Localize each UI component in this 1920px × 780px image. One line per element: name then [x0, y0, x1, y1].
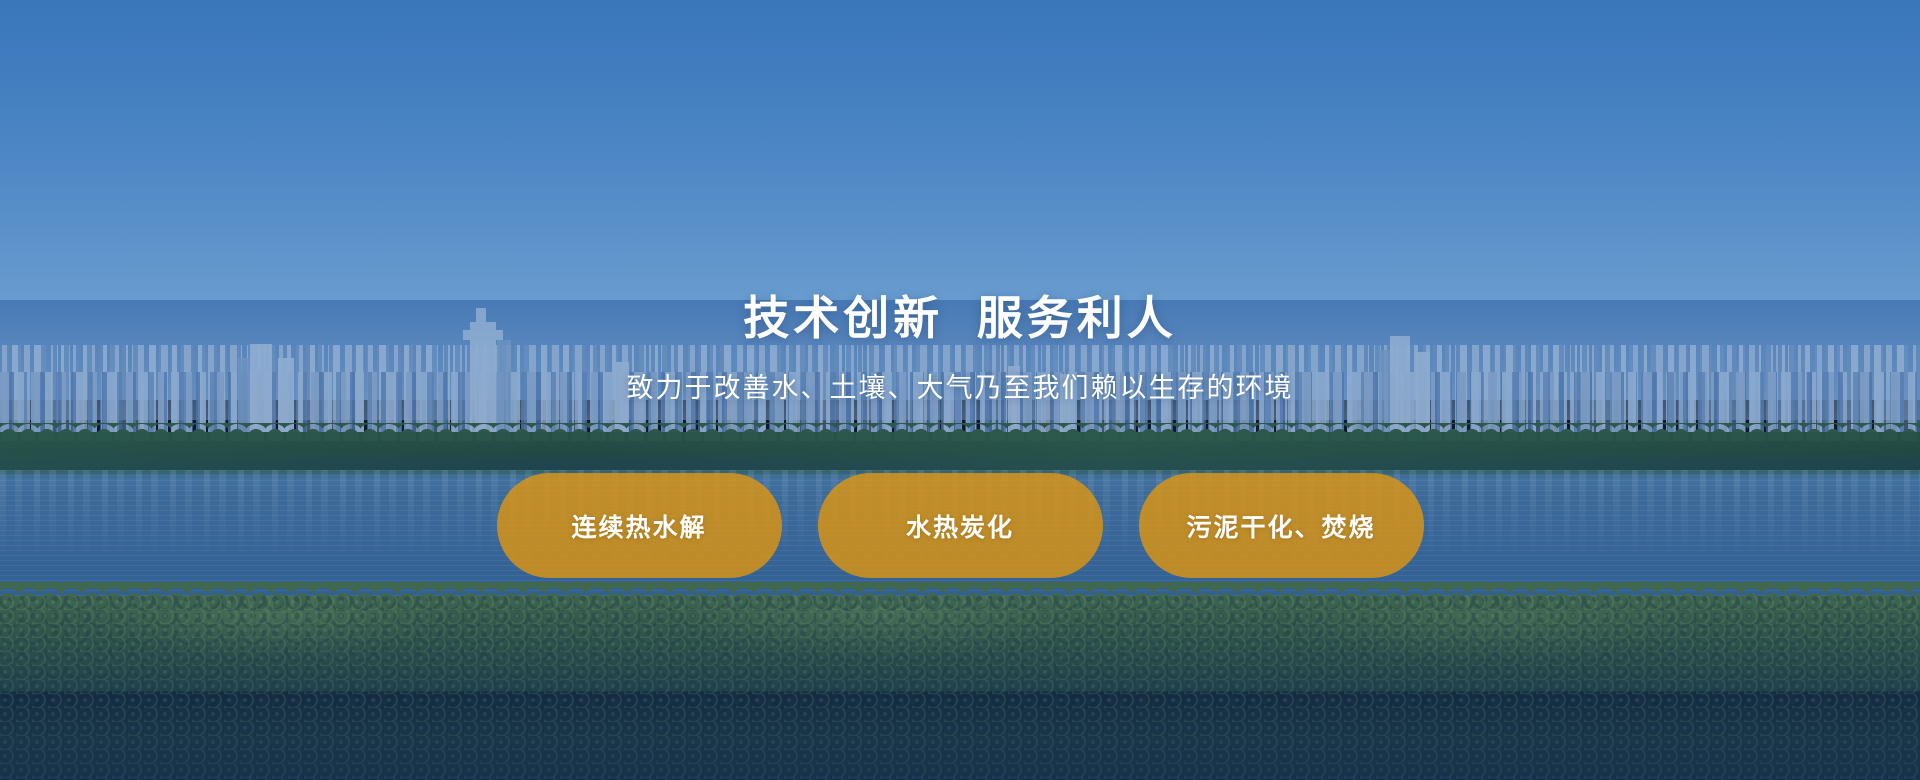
service-pill-label: 水热炭化	[906, 508, 1014, 544]
service-pill-continuous-thermal-hydrolysis[interactable]: 连续热水解	[497, 473, 782, 578]
hero-banner: 技术创新 服务利人 致力于改善水、土壤、大气乃至我们赖以生存的环境 连续热水解 …	[0, 0, 1920, 780]
service-pill-hydrothermal-carbonization[interactable]: 水热炭化	[818, 473, 1103, 578]
service-pill-label: 污泥干化、焚烧	[1186, 508, 1375, 544]
hero-subheadline: 致力于改善水、土壤、大气乃至我们赖以生存的环境	[0, 371, 1920, 406]
service-pill-sludge-drying-incineration[interactable]: 污泥干化、焚烧	[1139, 473, 1424, 578]
service-pill-label: 连续热水解	[571, 508, 706, 544]
hero-headline: 技术创新 服务利人	[0, 291, 1920, 345]
service-pill-row: 连续热水解 水热炭化 污泥干化、焚烧	[0, 473, 1920, 578]
hero-content: 技术创新 服务利人 致力于改善水、土壤、大气乃至我们赖以生存的环境 连续热水解 …	[0, 0, 1920, 780]
